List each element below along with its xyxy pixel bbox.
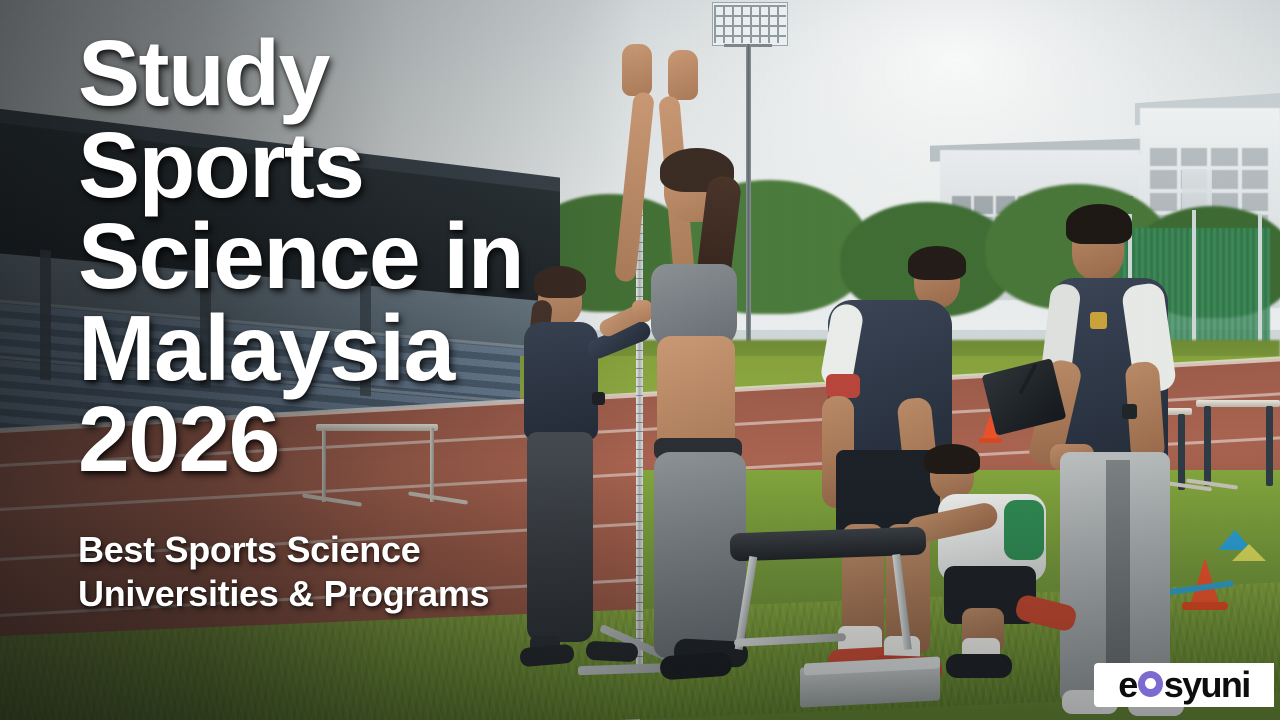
floodlight-pole	[746, 44, 751, 344]
subtitle-block: Best Sports Science Universities & Progr…	[78, 528, 698, 616]
hero-banner: Study Sports Science in Malaysia 2026 Be…	[0, 0, 1280, 720]
subtitle-line-2: Universities & Programs	[78, 572, 698, 616]
easyuni-logo[interactable]: e syuni	[1094, 663, 1274, 707]
logo-wordmark: e syuni	[1118, 667, 1249, 703]
headline-block: Study Sports Science in Malaysia 2026	[78, 28, 698, 486]
subtitle-line-1: Best Sports Science	[78, 528, 698, 572]
hair	[1066, 204, 1132, 244]
headline-line-1: Study	[78, 28, 698, 120]
headline-line-4: Malaysia	[78, 303, 698, 395]
headline-line-2: Sports	[78, 120, 698, 212]
wrist-watch	[1122, 404, 1137, 419]
logo-accent-letter-a	[1138, 671, 1163, 697]
jersey-armband	[826, 374, 860, 398]
logo-text-before: e	[1118, 667, 1136, 703]
logo-text-after: syuni	[1164, 667, 1250, 703]
page-title: Study Sports Science in Malaysia 2026	[78, 28, 698, 486]
headline-line-3: Science in	[78, 211, 698, 303]
hair	[908, 246, 966, 280]
crest-badge	[1090, 312, 1107, 329]
floodlight-lamps	[714, 5, 786, 43]
headline-line-5-year: 2026	[78, 394, 698, 486]
